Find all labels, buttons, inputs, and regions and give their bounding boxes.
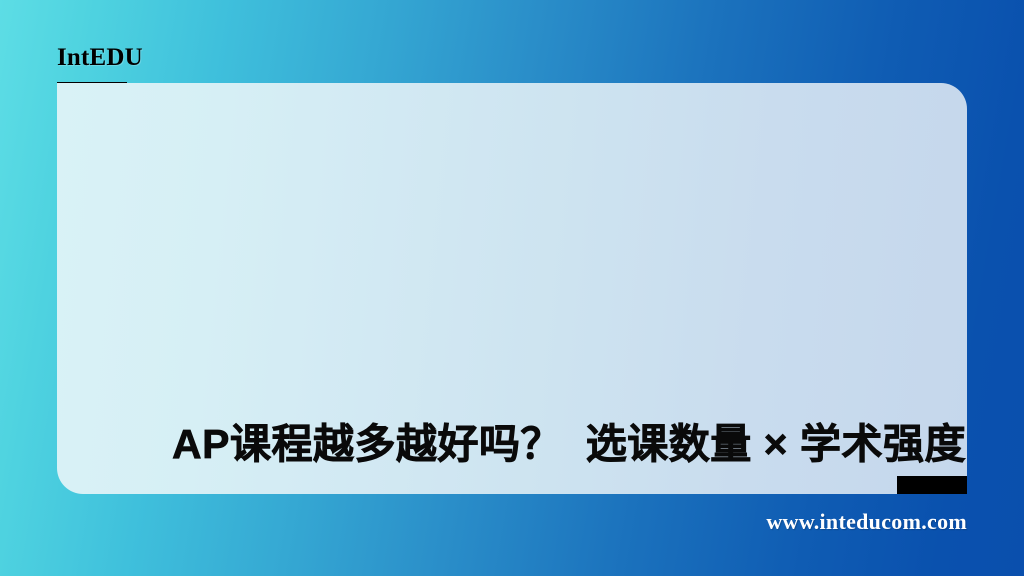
headline-line-1: AP课程越多越好吗？ 选课数量 × 学术强度 <box>114 413 1024 475</box>
content-card: AP课程越多越好吗？ 选课数量 × 学术强度 × 升学匹配的平衡法则 <box>57 83 967 494</box>
slide-canvas: IntEDU AP课程越多越好吗？ 选课数量 × 学术强度 × 升学匹配的平衡法… <box>0 0 1024 576</box>
website-url: www.inteducom.com <box>766 509 967 535</box>
accent-bar-bottom-right <box>897 476 967 494</box>
brand-logo: IntEDU <box>57 45 143 70</box>
